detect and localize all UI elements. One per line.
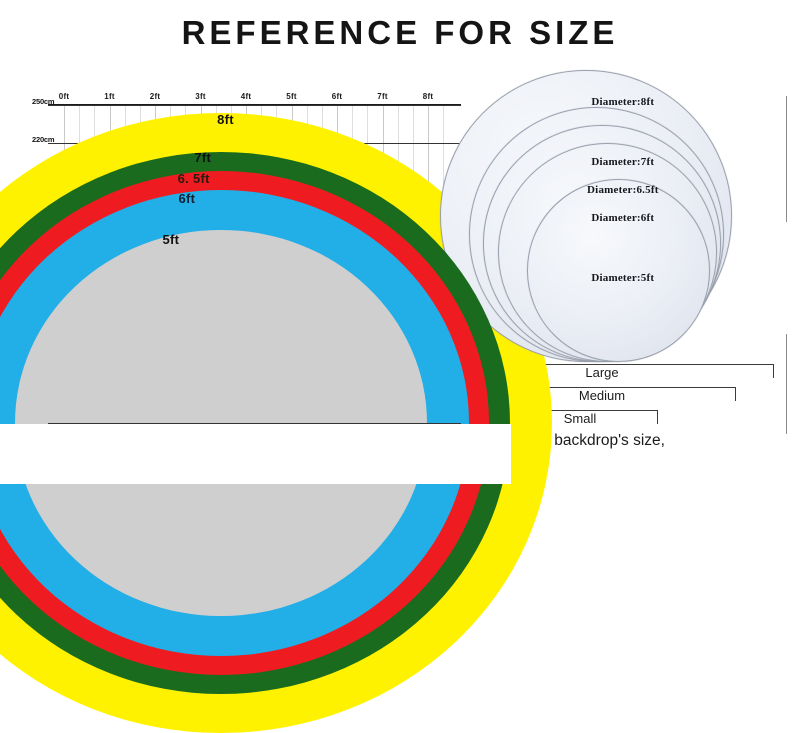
- x-tick-label: 2ft: [150, 92, 160, 101]
- y-gridline: [48, 105, 461, 106]
- disc-label-6ft: Diameter:6ft: [591, 212, 654, 224]
- y-tick-label: 220cm: [32, 135, 54, 144]
- size-reference-chart: REFERENCE FOR SIZE 8ft7ft6ft5ft4ft3ft2ft…: [0, 0, 800, 488]
- disc-label-8ft: Diameter:8ft: [591, 96, 654, 108]
- x-tick-label: 3ft: [195, 92, 205, 101]
- right-edge-line-top: [786, 96, 787, 222]
- baseline-rule: [48, 423, 461, 424]
- bracket-label-small: Small: [564, 411, 597, 426]
- x-tick-label: 7ft: [377, 92, 387, 101]
- baseline-mask: [0, 424, 511, 484]
- page-title: REFERENCE FOR SIZE: [0, 16, 800, 49]
- disc-5ft: [527, 179, 710, 362]
- bracket-label-medium: Medium: [579, 388, 625, 403]
- bracket-label-large: Large: [585, 365, 618, 380]
- x-tick-label: 4ft: [241, 92, 251, 101]
- arc-label-7ft: 7ft: [194, 150, 211, 165]
- right-edge-line-bottom: [786, 334, 787, 434]
- arc-label-8ft: 8ft: [217, 112, 234, 127]
- disc-label-6-5ft: Diameter:6.5ft: [587, 184, 659, 196]
- x-tick-label: 1ft: [104, 92, 114, 101]
- x-tick-label: 5ft: [286, 92, 296, 101]
- x-tick-label: 0ft: [59, 92, 69, 101]
- x-tick-label: 6ft: [332, 92, 342, 101]
- chart-plot-area: 8ft7ft6ft5ft4ft3ft2ft1ft0ft 250cm220cm18…: [31, 92, 420, 424]
- arc-label-6ft: 6ft: [178, 191, 195, 206]
- height-reference-chart: 8ft7ft6ft5ft4ft3ft2ft1ft0ft 250cm220cm18…: [0, 72, 430, 424]
- arc-label-5ft: 5ft: [163, 232, 180, 247]
- arc-label-6-5ft: 6. 5ft: [178, 171, 210, 186]
- disc-label-5ft: Diameter:5ft: [591, 272, 654, 284]
- y-tick-label: 250cm: [32, 97, 54, 106]
- disc-label-7ft: Diameter:7ft: [591, 156, 654, 168]
